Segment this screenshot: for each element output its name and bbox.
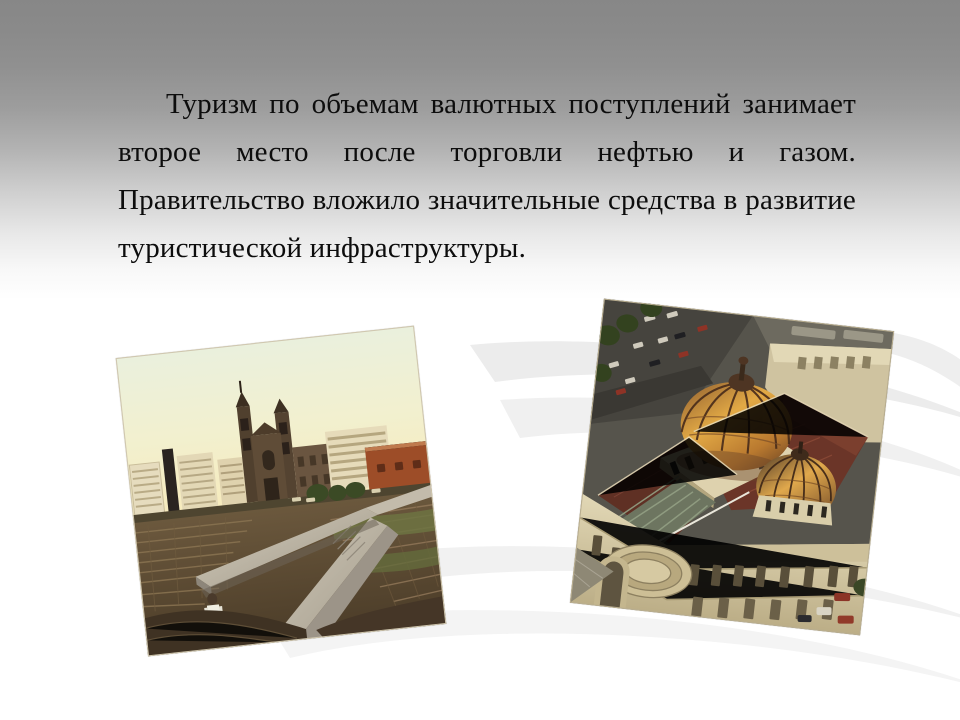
photo-palacio-content — [570, 299, 894, 636]
photo-tlatelolco — [116, 326, 447, 657]
slide-canvas: Туризм по объемам валютных поступлений з… — [0, 0, 960, 720]
bellas-artes-illustration — [570, 299, 894, 636]
body-paragraph: Туризм по объемам валютных поступлений з… — [118, 80, 856, 272]
photo-palacio-bellas-artes — [570, 299, 894, 636]
photo-tlatelolco-content — [116, 326, 447, 657]
tlatelolco-illustration — [116, 326, 447, 657]
